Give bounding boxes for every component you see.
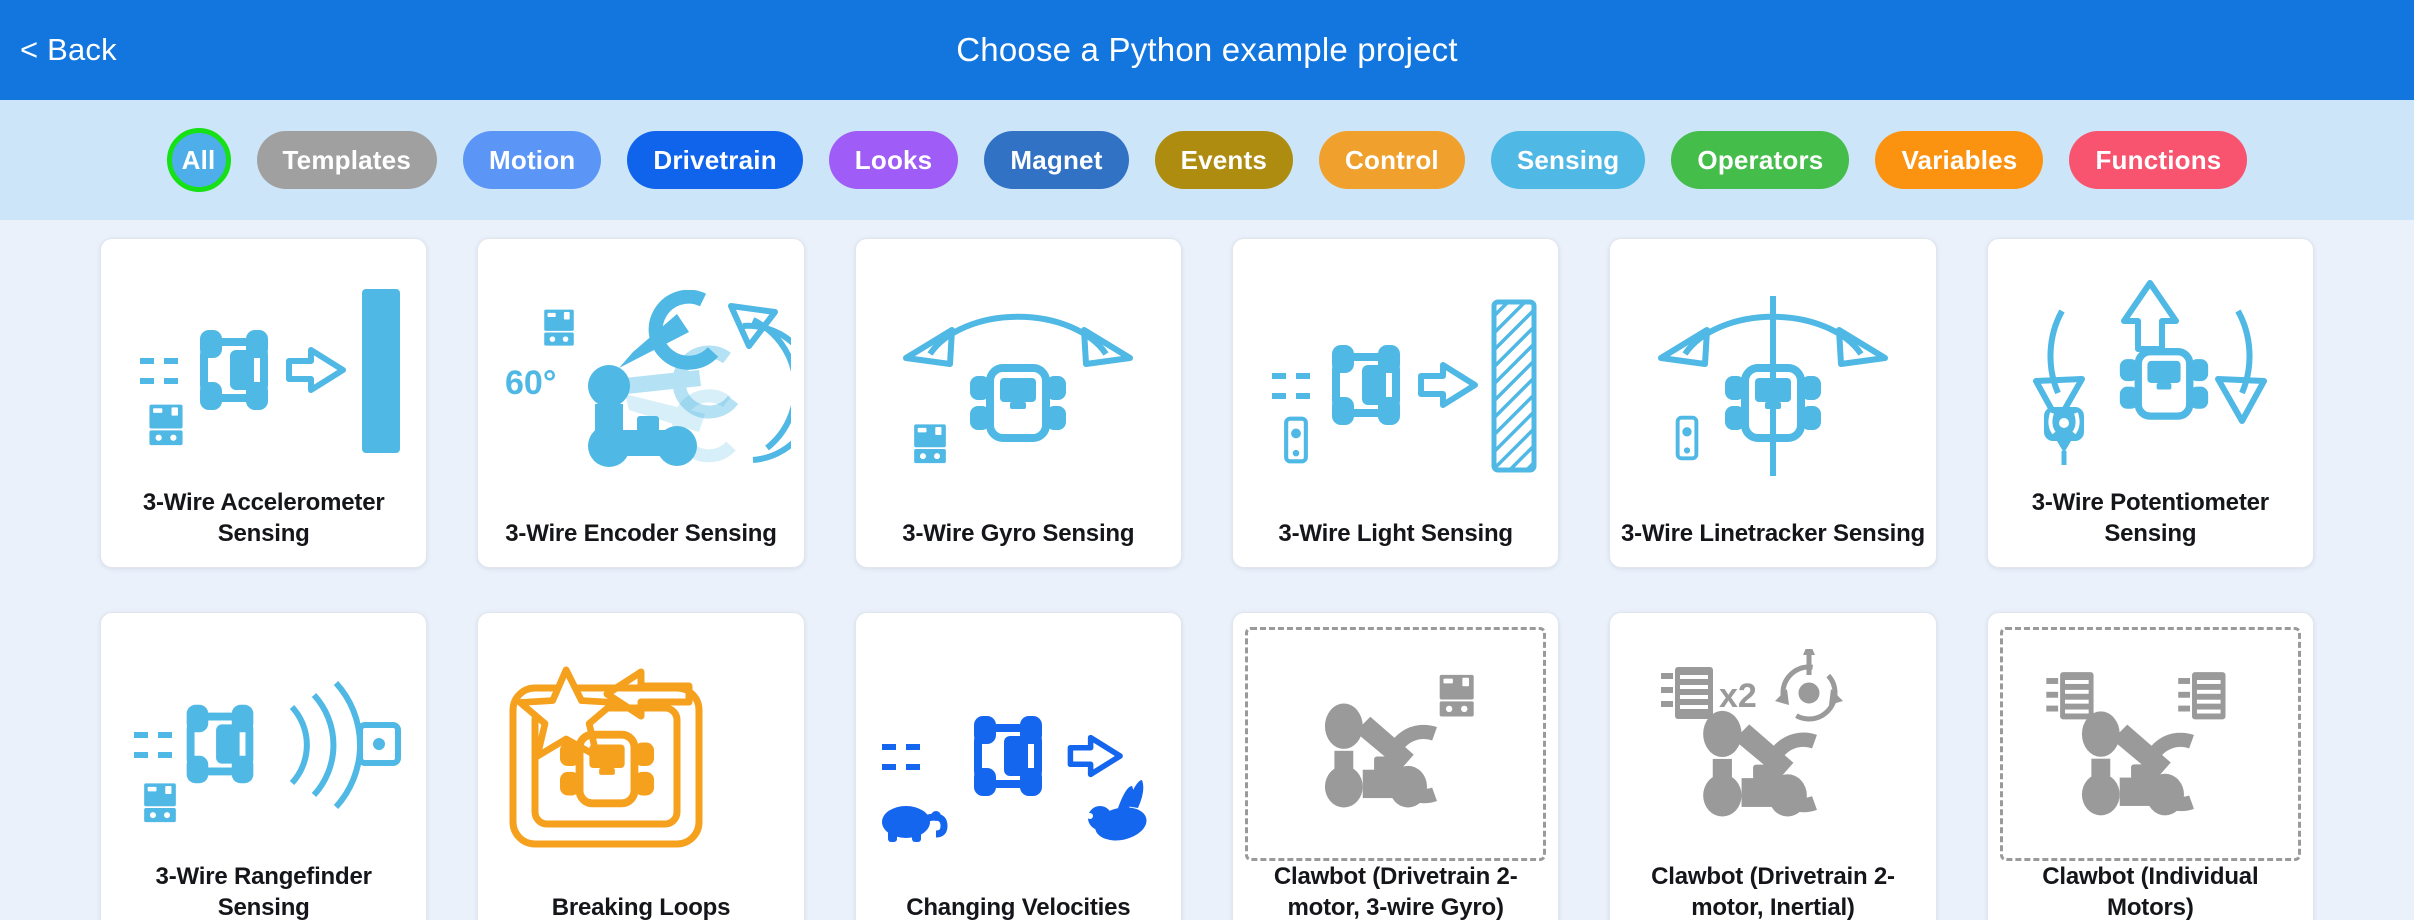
project-card-label: 3-Wire Linetracker Sensing <box>1611 518 1935 567</box>
linetracker-icon <box>1610 239 1935 518</box>
project-card-label: 3-Wire Accelerometer Sensing <box>101 487 426 567</box>
page-title: Choose a Python example project <box>0 31 2414 69</box>
filter-chip-label: Looks <box>855 145 933 176</box>
potentiometer-icon <box>1988 239 2313 487</box>
project-card-label: 3-Wire Potentiometer Sensing <box>1988 487 2313 567</box>
rangefinder-icon <box>101 613 426 861</box>
project-card-label: 3-Wire Light Sensing <box>1268 518 1522 567</box>
project-card[interactable]: 60° <box>477 238 804 568</box>
project-card[interactable]: x2 Clawbot (Drivetra <box>1609 612 1936 920</box>
project-card[interactable]: Clawbot (Individual Motors) <box>1987 612 2314 920</box>
filter-chip-label: Templates <box>283 145 411 176</box>
project-card-label: 3-Wire Encoder Sensing <box>495 518 786 567</box>
filter-chip-magnet[interactable]: Magnet <box>984 131 1128 189</box>
project-card-label: Changing Velocities <box>896 892 1140 920</box>
clawbot-inertial-icon: x2 <box>1610 613 1935 861</box>
filter-chip-label: Events <box>1181 145 1267 176</box>
project-card[interactable]: Changing Velocities <box>855 612 1182 920</box>
filter-chip-events[interactable]: Events <box>1155 131 1293 189</box>
filter-chip-label: Control <box>1345 145 1439 176</box>
project-card[interactable]: 3-Wire Gyro Sensing <box>855 238 1182 568</box>
back-button[interactable]: < Back <box>20 32 117 68</box>
project-grid-scroll-area[interactable]: 3-Wire Accelerometer Sensing60° <box>0 220 2414 920</box>
project-card-label: 3-Wire Gyro Sensing <box>892 518 1144 567</box>
filter-chip-drivetrain[interactable]: Drivetrain <box>627 131 802 189</box>
project-card[interactable]: 3-Wire Potentiometer Sensing <box>1987 238 2314 568</box>
filter-chip-label: Drivetrain <box>653 145 776 176</box>
filter-chip-control[interactable]: Control <box>1319 131 1465 189</box>
light-icon <box>1233 239 1558 518</box>
project-card[interactable]: 3-Wire Rangefinder Sensing <box>100 612 427 920</box>
project-card-label: Clawbot (Drivetrain 2-motor, 3-wire Gyro… <box>1233 861 1558 920</box>
loop-icon <box>478 613 803 892</box>
clawbot-motors-icon <box>2000 627 2301 861</box>
gyro-icon <box>856 239 1181 518</box>
project-card-label: Breaking Loops <box>542 892 741 920</box>
project-card-label: Clawbot (Drivetrain 2-motor, Inertial) <box>1610 861 1935 920</box>
velocity-icon <box>856 613 1181 892</box>
filter-chip-label: Magnet <box>1010 145 1102 176</box>
project-card[interactable]: Breaking Loops <box>477 612 804 920</box>
project-card-label: 3-Wire Rangefinder Sensing <box>101 861 426 920</box>
filter-chip-all[interactable]: All <box>167 128 231 192</box>
filter-chip-sensing[interactable]: Sensing <box>1491 131 1646 189</box>
filter-chip-label: Variables <box>1901 145 2017 176</box>
project-grid: 3-Wire Accelerometer Sensing60° <box>100 238 2314 920</box>
project-card[interactable]: 3-Wire Light Sensing <box>1232 238 1559 568</box>
filter-chip-label: Sensing <box>1517 145 1620 176</box>
project-card[interactable]: 3-Wire Linetracker Sensing <box>1609 238 1936 568</box>
filter-chip-label: Functions <box>2095 145 2221 176</box>
category-filter-bar: AllTemplatesMotionDrivetrainLooksMagnetE… <box>0 100 2414 220</box>
project-card-label: Clawbot (Individual Motors) <box>1988 861 2313 920</box>
filter-chip-operators[interactable]: Operators <box>1671 131 1849 189</box>
svg-text:x2: x2 <box>1719 677 1757 715</box>
filter-chip-looks[interactable]: Looks <box>829 131 959 189</box>
filter-chip-functions[interactable]: Functions <box>2069 131 2247 189</box>
svg-text:60°: 60° <box>505 364 556 402</box>
project-card[interactable]: Clawbot (Drivetrain 2-motor, 3-wire Gyro… <box>1232 612 1559 920</box>
filter-chip-label: Operators <box>1697 145 1823 176</box>
project-card[interactable]: 3-Wire Accelerometer Sensing <box>100 238 427 568</box>
app-header: < Back Choose a Python example project <box>0 0 2414 100</box>
accelerometer-icon <box>101 239 426 487</box>
filter-chip-templates[interactable]: Templates <box>257 131 437 189</box>
filter-chip-label: Motion <box>489 145 575 176</box>
filter-chip-label: All <box>182 145 216 176</box>
encoder-icon: 60° <box>478 239 803 518</box>
clawbot-gyro-icon <box>1245 627 1546 861</box>
filter-chip-motion[interactable]: Motion <box>463 131 601 189</box>
filter-chip-variables[interactable]: Variables <box>1875 131 2043 189</box>
